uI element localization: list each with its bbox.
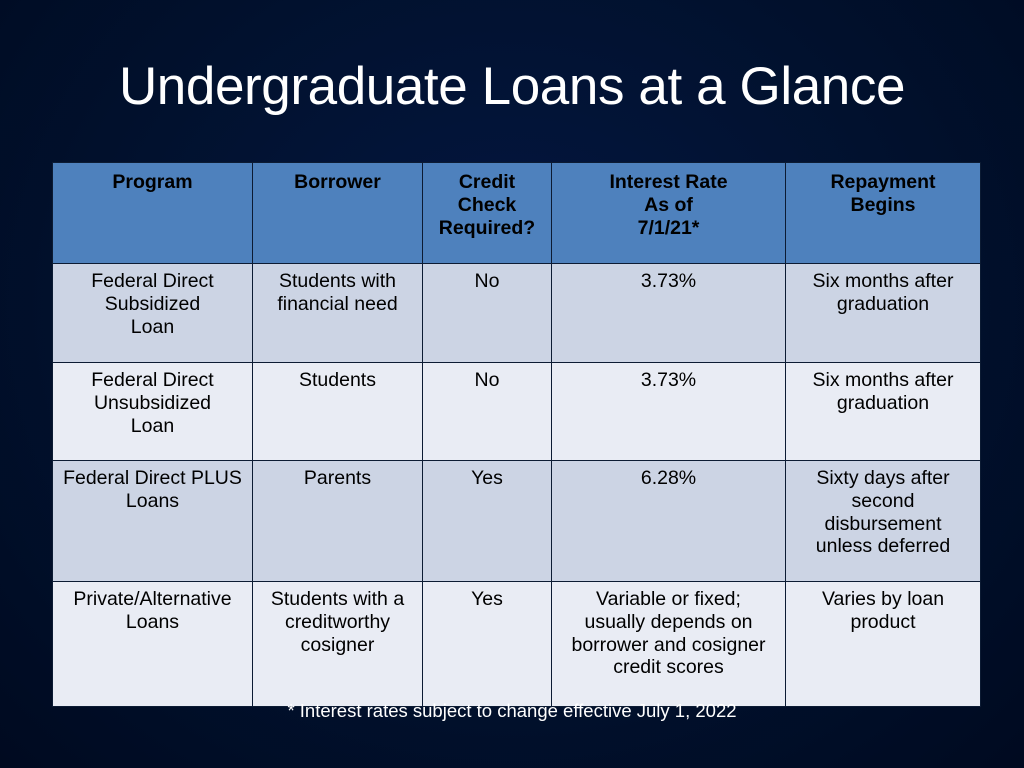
cell-repayment-line2: graduation xyxy=(790,293,976,316)
cell-program-line1: Federal Direct xyxy=(57,270,248,293)
cell-program: Federal Direct PLUS Loans xyxy=(53,461,253,582)
footnote-text: * Interest rates subject to change effec… xyxy=(0,700,1024,722)
column-header-repayment-line1: Repayment xyxy=(790,171,976,194)
cell-repayment-line1: Six months after xyxy=(790,369,976,392)
cell-credit-check: Yes xyxy=(423,582,552,707)
cell-repayment: Six months after graduation xyxy=(786,264,981,363)
cell-interest-rate: 6.28% xyxy=(552,461,786,582)
cell-program-line3: Loan xyxy=(57,316,248,339)
cell-rate-line1: Variable or fixed; xyxy=(556,588,781,611)
table-header: Program Borrower Credit Check Required? … xyxy=(53,163,981,264)
cell-rate-line3: borrower and cosigner xyxy=(556,634,781,657)
cell-borrower-line3: cosigner xyxy=(257,634,418,657)
cell-borrower-line1: Parents xyxy=(257,467,418,490)
cell-credit-check: No xyxy=(423,264,552,363)
cell-repayment-line4: unless deferred xyxy=(790,535,976,558)
cell-borrower: Students with financial need xyxy=(253,264,423,363)
cell-repayment-line3: disbursement xyxy=(790,513,976,536)
slide-canvas: Undergraduate Loans at a Glance Program … xyxy=(0,0,1024,768)
cell-borrower-line1: Students xyxy=(257,369,418,392)
cell-program-line1: Private/Alternative xyxy=(57,588,248,611)
cell-repayment-line1: Sixty days after xyxy=(790,467,976,490)
cell-borrower: Students xyxy=(253,363,423,461)
cell-repayment-line2: product xyxy=(790,611,976,634)
cell-credit-check: No xyxy=(423,363,552,461)
cell-repayment-line1: Varies by loan xyxy=(790,588,976,611)
cell-program: Private/Alternative Loans xyxy=(53,582,253,707)
column-header-rate-line3: 7/1/21* xyxy=(556,217,781,240)
table-row: Private/Alternative Loans Students with … xyxy=(53,582,981,707)
cell-borrower: Parents xyxy=(253,461,423,582)
cell-credit-check: Yes xyxy=(423,461,552,582)
cell-borrower-line1: Students with xyxy=(257,270,418,293)
undergraduate-loans-table: Program Borrower Credit Check Required? … xyxy=(52,162,981,707)
cell-program-line1: Federal Direct PLUS xyxy=(57,467,248,490)
column-header-repayment-line2: Begins xyxy=(790,194,976,217)
cell-repayment: Varies by loan product xyxy=(786,582,981,707)
column-header-borrower-line1: Borrower xyxy=(257,171,418,194)
column-header-interest-rate: Interest Rate As of 7/1/21* xyxy=(552,163,786,264)
column-header-borrower: Borrower xyxy=(253,163,423,264)
table-row: Federal Direct PLUS Loans Parents Yes 6.… xyxy=(53,461,981,582)
page-title: Undergraduate Loans at a Glance xyxy=(0,58,1024,116)
cell-repayment-line2: second xyxy=(790,490,976,513)
cell-interest-rate: 3.73% xyxy=(552,363,786,461)
column-header-repayment-begins: Repayment Begins xyxy=(786,163,981,264)
cell-rate-line4: credit scores xyxy=(556,656,781,679)
cell-repayment-line2: graduation xyxy=(790,392,976,415)
column-header-program: Program xyxy=(53,163,253,264)
column-header-rate-line1: Interest Rate xyxy=(556,171,781,194)
table-header-row: Program Borrower Credit Check Required? … xyxy=(53,163,981,264)
cell-program: Federal Direct Subsidized Loan xyxy=(53,264,253,363)
column-header-credit-line1: Credit xyxy=(427,171,547,194)
cell-repayment: Six months after graduation xyxy=(786,363,981,461)
cell-program-line2: Loans xyxy=(57,490,248,513)
cell-repayment: Sixty days after second disbursement unl… xyxy=(786,461,981,582)
cell-interest-rate: 3.73% xyxy=(552,264,786,363)
cell-program-line2: Subsidized xyxy=(57,293,248,316)
column-header-rate-line2: As of xyxy=(556,194,781,217)
table-row: Federal Direct Unsubsidized Loan Student… xyxy=(53,363,981,461)
column-header-credit-check: Credit Check Required? xyxy=(423,163,552,264)
cell-borrower: Students with a creditworthy cosigner xyxy=(253,582,423,707)
column-header-credit-line2: Check xyxy=(427,194,547,217)
cell-borrower-line2: creditworthy xyxy=(257,611,418,634)
cell-program-line1: Federal Direct xyxy=(57,369,248,392)
table-row: Federal Direct Subsidized Loan Students … xyxy=(53,264,981,363)
column-header-credit-line3: Required? xyxy=(427,217,547,240)
table-body: Federal Direct Subsidized Loan Students … xyxy=(53,264,981,707)
cell-program-line2: Loans xyxy=(57,611,248,634)
cell-rate-line2: usually depends on xyxy=(556,611,781,634)
cell-program: Federal Direct Unsubsidized Loan xyxy=(53,363,253,461)
cell-program-line2: Unsubsidized xyxy=(57,392,248,415)
column-header-program-line1: Program xyxy=(57,171,248,194)
cell-borrower-line1: Students with a xyxy=(257,588,418,611)
cell-interest-rate: Variable or fixed; usually depends on bo… xyxy=(552,582,786,707)
cell-repayment-line1: Six months after xyxy=(790,270,976,293)
cell-program-line3: Loan xyxy=(57,415,248,438)
cell-borrower-line2: financial need xyxy=(257,293,418,316)
